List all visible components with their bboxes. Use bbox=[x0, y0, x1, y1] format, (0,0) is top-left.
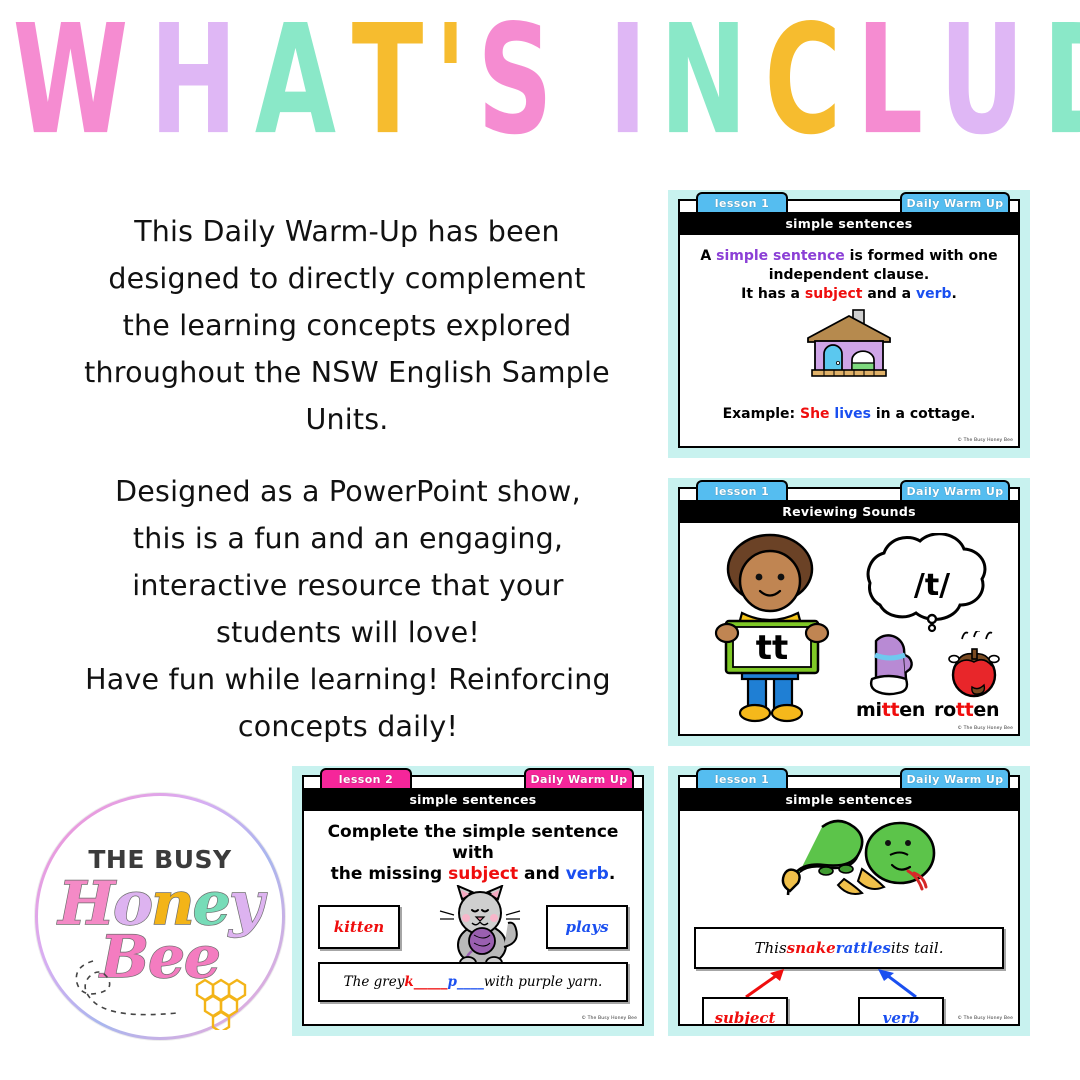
slide-3-tabs: lesson 2 Daily Warm Up bbox=[304, 768, 642, 790]
slide-4-verb-box[interactable]: verb bbox=[858, 997, 944, 1024]
slide-3-left-word-box[interactable]: kitten bbox=[318, 905, 400, 949]
slide-3-sentence-strip[interactable]: The grey k_____ p____ with purple yarn. bbox=[318, 962, 628, 1002]
slide-2-lesson-tab[interactable]: lesson 1 bbox=[696, 480, 788, 500]
slide-thumbnail-1[interactable]: lesson 1 Daily Warm Up simple sentences … bbox=[668, 190, 1030, 458]
word-rotten: rotten bbox=[934, 699, 999, 721]
title-letter: W bbox=[13, 0, 128, 164]
subject-arrow-icon bbox=[740, 967, 790, 999]
slide-2-warmup-tab[interactable]: Daily Warm Up bbox=[900, 480, 1010, 500]
title-letter: D bbox=[1042, 0, 1080, 164]
slide-1-line-3: It has a subject and a verb. bbox=[680, 285, 1018, 304]
slide-4-header: simple sentences bbox=[680, 788, 1018, 811]
intro-paragraph-2: Designed as a PowerPoint show,this is a … bbox=[38, 468, 658, 750]
word-mitten: mitten bbox=[856, 699, 925, 721]
brand-logo: THE BUSY Honey Bee bbox=[35, 793, 285, 1040]
title-letter: H bbox=[150, 0, 237, 164]
paragraph-line: Designed as a PowerPoint show, bbox=[38, 468, 658, 515]
slide-1-copyright: © The Busy Honey Bee bbox=[957, 438, 1013, 443]
boy-holding-sign-illustration: tt bbox=[702, 529, 842, 724]
slide-1-line-2: independent clause. bbox=[680, 266, 1018, 285]
paragraph-line: students will love! bbox=[38, 609, 658, 656]
title-letter bbox=[564, 0, 600, 164]
verb-arrow-icon bbox=[872, 967, 922, 999]
svg-text:tt: tt bbox=[756, 628, 789, 668]
cottage-house-illustration bbox=[794, 308, 904, 380]
slide-3-prompt-line-2: the missing subject and verb. bbox=[304, 864, 642, 885]
slide-1-header: simple sentences bbox=[680, 212, 1018, 235]
slide-3-prompt-line-1: Complete the simple sentence with bbox=[304, 822, 642, 864]
thought-bubble-icon: /t/ bbox=[840, 533, 1018, 633]
paragraph-line: concepts daily! bbox=[38, 703, 658, 750]
title-letter: A bbox=[255, 0, 335, 164]
slide-2-tabs: lesson 1 Daily Warm Up bbox=[680, 480, 1018, 502]
paragraph-line: This Daily Warm-Up has been bbox=[52, 208, 642, 255]
slide-4-copyright: © The Busy Honey Bee bbox=[957, 1016, 1013, 1021]
slide-4-subject-box[interactable]: subject bbox=[702, 997, 788, 1024]
slide-3-header: simple sentences bbox=[304, 788, 642, 811]
title-letter: T bbox=[352, 0, 423, 164]
slide-1-example: Example: She lives in a cottage. bbox=[680, 405, 1018, 424]
slide-3-lesson-tab[interactable]: lesson 2 bbox=[320, 768, 412, 788]
title-letter: C bbox=[765, 0, 841, 164]
slide-4-sentence-strip[interactable]: This snake rattles its tail. bbox=[694, 927, 1004, 969]
slide-3-canvas: Complete the simple sentence with the mi… bbox=[304, 811, 642, 1024]
slide-1-tabs: lesson 1 Daily Warm Up bbox=[680, 192, 1018, 214]
slide-1-warmup-tab[interactable]: Daily Warm Up bbox=[900, 192, 1010, 212]
slide-4-lesson-tab[interactable]: lesson 1 bbox=[696, 768, 788, 788]
title-letter: ' bbox=[434, 0, 465, 164]
slide-3-right-word-box[interactable]: plays bbox=[546, 905, 628, 949]
slide-2-copyright: © The Busy Honey Bee bbox=[957, 726, 1013, 731]
page-title: WHAT'S INCLUDED bbox=[0, 24, 1080, 164]
slide-4-canvas: This snake rattles its tail. subject ver… bbox=[680, 811, 1018, 1024]
intro-paragraph-1: This Daily Warm-Up has beendesigned to d… bbox=[52, 208, 642, 443]
slide-2-canvas: tt /t/ bbox=[680, 523, 1018, 734]
poster-canvas: WHAT'S INCLUDED This Daily Warm-Up has b… bbox=[0, 0, 1080, 1080]
slide-thumbnail-4[interactable]: lesson 1 Daily Warm Up simple sentences bbox=[668, 766, 1030, 1036]
slide-3-warmup-tab[interactable]: Daily Warm Up bbox=[524, 768, 634, 788]
paragraph-line: this is a fun and an engaging, bbox=[38, 515, 658, 562]
slide-4-tabs: lesson 1 Daily Warm Up bbox=[680, 768, 1018, 790]
rotten-apple-icon bbox=[942, 631, 1006, 701]
slide-3-copyright: © The Busy Honey Bee bbox=[581, 1016, 637, 1021]
paragraph-line: Units. bbox=[52, 396, 642, 443]
slide-2-header: Reviewing Sounds bbox=[680, 500, 1018, 523]
title-letter: N bbox=[660, 0, 747, 164]
title-letter: L bbox=[857, 0, 923, 164]
green-snake-illustration bbox=[766, 817, 956, 922]
title-letter: S bbox=[477, 0, 552, 164]
title-letter: U bbox=[939, 0, 1023, 164]
svg-text:/t/: /t/ bbox=[914, 568, 950, 603]
paragraph-line: Have fun while learning! Reinforcing bbox=[38, 656, 658, 703]
paragraph-line: the learning concepts explored bbox=[52, 302, 642, 349]
paragraph-line: throughout the NSW English Sample bbox=[52, 349, 642, 396]
paragraph-line: interactive resource that your bbox=[38, 562, 658, 609]
paragraph-line: designed to directly complement bbox=[52, 255, 642, 302]
mitten-icon bbox=[860, 633, 920, 701]
kitten-with-yarn-illustration bbox=[436, 885, 528, 971]
slide-1-line-1: A simple sentence is formed with one bbox=[680, 247, 1018, 266]
slide-1-lesson-tab[interactable]: lesson 1 bbox=[696, 192, 788, 212]
bee-trail-icon bbox=[57, 953, 207, 1031]
slide-thumbnail-2[interactable]: lesson 1 Daily Warm Up Reviewing Sounds bbox=[668, 478, 1030, 746]
slide-1-canvas: A simple sentence is formed with one ind… bbox=[680, 235, 1018, 446]
title-letter: I bbox=[608, 0, 646, 164]
slide-4-warmup-tab[interactable]: Daily Warm Up bbox=[900, 768, 1010, 788]
slide-thumbnail-3[interactable]: lesson 2 Daily Warm Up simple sentences … bbox=[292, 766, 654, 1036]
